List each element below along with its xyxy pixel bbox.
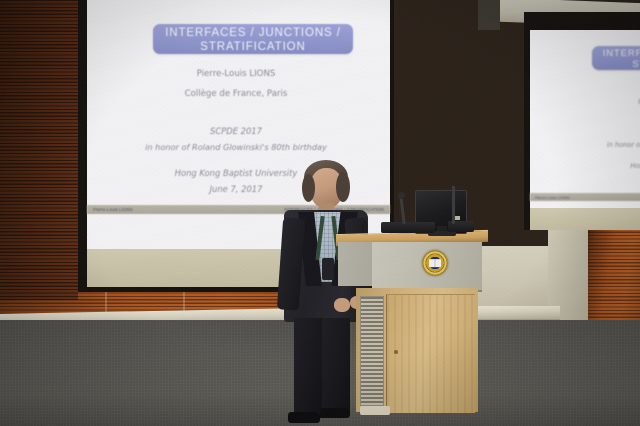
slide-dedication: in honor of Roland Glowinski's 80th birt… — [78, 142, 394, 152]
crest-book-icon — [429, 259, 441, 267]
speaker-hair-side — [336, 172, 350, 202]
podium-cabinet-door — [386, 294, 475, 413]
slide-speaker-name: Pierre-Louis LIONS — [78, 69, 394, 79]
monitor-label — [455, 216, 460, 220]
projection-screen-right: INTERFACES / JUNCTIONS / STRATIFICATION … — [524, 12, 640, 230]
slide-footer-bar: Pierre-Louis LIONS INTERFACES / JUNCTION… — [530, 193, 640, 201]
slide-title-banner: INTERFACES / JUNCTIONS / STRATIFICATION — [592, 46, 640, 70]
microphone-head — [398, 192, 405, 199]
slide-footer-left: Pierre-Louis LIONS — [93, 207, 133, 212]
slide-right: INTERFACES / JUNCTIONS / STRATIFICATION … — [530, 30, 640, 226]
speaker-leg — [294, 318, 324, 418]
slide-event: SCPDE 2017 — [78, 126, 394, 136]
lectern-podium — [336, 232, 488, 426]
hkbu-crest-emblem — [422, 250, 448, 276]
slide-footer-left: Pierre-Louis LIONS — [535, 195, 570, 200]
slide-event: SCPDE 2017 — [530, 128, 640, 136]
slide-affiliation: Collège de France, Paris — [530, 98, 640, 106]
podium-foot — [360, 406, 390, 415]
slide-title: INTERFACES / JUNCTIONS / STRATIFICATION — [592, 46, 640, 70]
speaker-hair-side — [302, 174, 315, 202]
podium-door-knob[interactable] — [394, 350, 398, 354]
slide-title: INTERFACES / JUNCTIONS / STRATIFICATION — [153, 24, 353, 54]
slide-affiliation: Collège de France, Paris — [78, 89, 394, 99]
slide-speaker-name: Pierre-Louis LIONS — [530, 82, 640, 90]
wood-wall-panel-right — [588, 218, 640, 330]
slide-dedication: in honor of Roland Glowinski's 80th birt… — [530, 141, 640, 149]
podium-side-panel — [338, 242, 374, 286]
microphone-boom — [452, 186, 455, 224]
speaker-shoe — [288, 412, 320, 423]
slide-venue: Hong Kong Baptist University — [530, 162, 640, 170]
desk-equipment — [381, 222, 435, 233]
slide-title-banner: INTERFACES / JUNCTIONS / STRATIFICATION — [153, 24, 353, 54]
wood-wall-panel-dark — [0, 0, 78, 300]
ceiling-shadow — [478, 0, 500, 30]
microphone-boom — [399, 196, 405, 224]
podium-vent-grille — [360, 296, 384, 406]
slide-date: June 7, 2017 — [530, 175, 640, 183]
speaker-badge — [322, 258, 334, 280]
lecture-hall-photo: INTERFACES / JUNCTIONS / STRATIFICATION … — [0, 0, 640, 426]
